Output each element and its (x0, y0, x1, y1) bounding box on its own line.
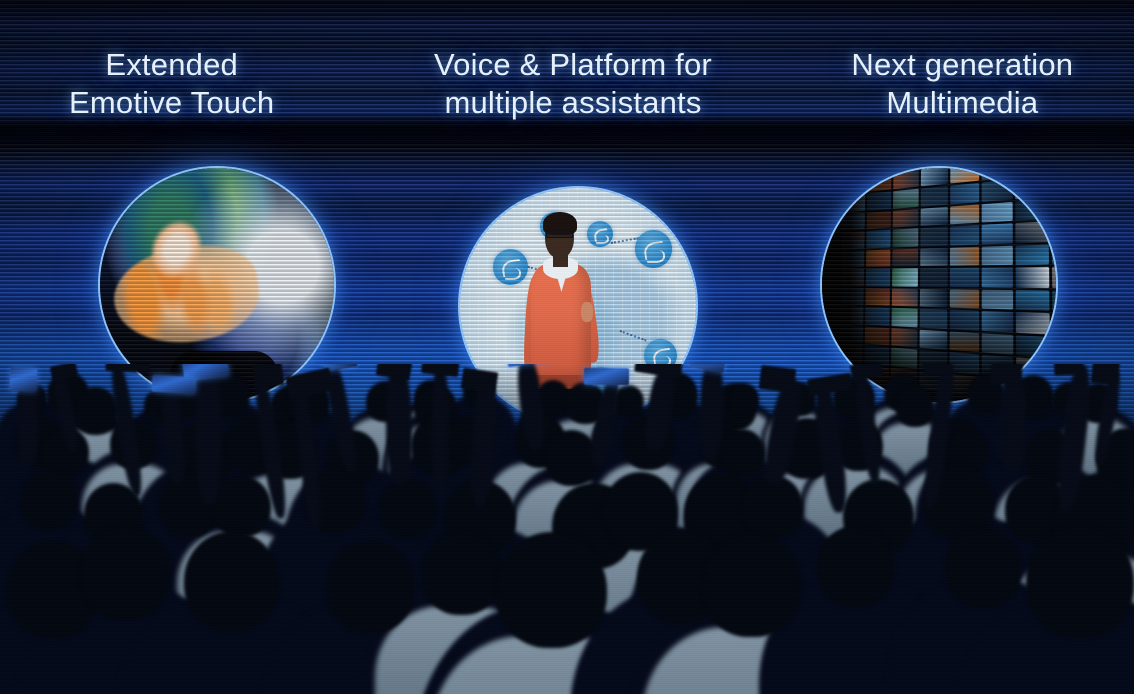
raised-arm (999, 372, 1027, 475)
audience-crowd (0, 364, 1134, 694)
audience-member-head (741, 475, 802, 539)
heading-extended-emotive-touch: Extended Emotive Touch (0, 46, 395, 136)
audience-member-head (817, 526, 894, 607)
smartphone (759, 365, 797, 393)
glasses-icon (546, 230, 573, 238)
video-tile (1015, 200, 1048, 222)
video-tile (920, 207, 947, 227)
audience-member-head (728, 383, 758, 415)
video-tile (920, 187, 947, 207)
video-tile (981, 224, 1012, 244)
audience-member-head (212, 476, 271, 538)
audience-member-head (21, 470, 78, 530)
audience-member-head (945, 527, 1021, 607)
video-tile (1015, 177, 1048, 199)
smartphone (1091, 364, 1120, 385)
audience-member-head (422, 532, 500, 614)
video-tile (1016, 290, 1050, 311)
audience-member-head (896, 386, 935, 427)
video-tile (950, 168, 979, 184)
video-tile (981, 168, 1012, 181)
video-tile (950, 247, 979, 266)
video-tile (1052, 291, 1056, 313)
video-tile (950, 205, 979, 225)
video-tile (1051, 197, 1056, 220)
video-tile (1015, 245, 1048, 266)
video-tile (920, 289, 947, 308)
video-tile (1015, 268, 1048, 288)
audience-member-head (184, 531, 279, 631)
video-tile (1052, 244, 1056, 265)
video-tile (981, 268, 1012, 288)
audience-member-head (496, 532, 607, 648)
video-tile (1051, 168, 1056, 174)
presenter-hand (581, 302, 593, 322)
video-tile (1052, 267, 1056, 288)
raised-arm (432, 364, 449, 495)
audience-member-head (702, 533, 801, 637)
video-tile (981, 202, 1012, 223)
raised-arm (385, 368, 413, 485)
audience-member-head (379, 479, 436, 539)
audience-member-head (327, 541, 415, 633)
audience-member-head (1026, 525, 1134, 638)
video-tile (1051, 220, 1056, 242)
smartphone-screen (10, 367, 38, 391)
smartphone-screen (151, 375, 196, 394)
stage-scene: Extended Emotive Touch Voice & Platform … (0, 0, 1134, 694)
smartphone (1054, 364, 1084, 376)
audience-member-head (719, 429, 765, 477)
video-tile (921, 168, 948, 187)
audience-member-head (81, 526, 170, 619)
video-tile (950, 226, 979, 246)
raised-arm (196, 366, 222, 505)
video-tile (1051, 173, 1056, 196)
audience-member-head (545, 430, 598, 486)
heading-voice-platform: Voice & Platform for multiple assistants (395, 46, 744, 136)
raised-arm (18, 378, 39, 468)
smartphone (990, 364, 1024, 387)
video-tile (981, 181, 1012, 202)
smartphone-screen (583, 368, 628, 385)
video-tile (950, 290, 979, 309)
heading-next-generation-multimedia: Next generation Multimedia (745, 46, 1134, 136)
video-tile (950, 268, 979, 287)
video-tile (920, 269, 947, 287)
video-tile (920, 248, 947, 267)
audience-member-head (73, 387, 119, 435)
video-tile (920, 228, 947, 247)
video-tile (950, 184, 979, 205)
wall-headings: Extended Emotive Touch Voice & Platform … (0, 46, 1134, 136)
video-tile (981, 246, 1012, 266)
video-tile (981, 290, 1012, 310)
video-tile (1015, 222, 1048, 243)
